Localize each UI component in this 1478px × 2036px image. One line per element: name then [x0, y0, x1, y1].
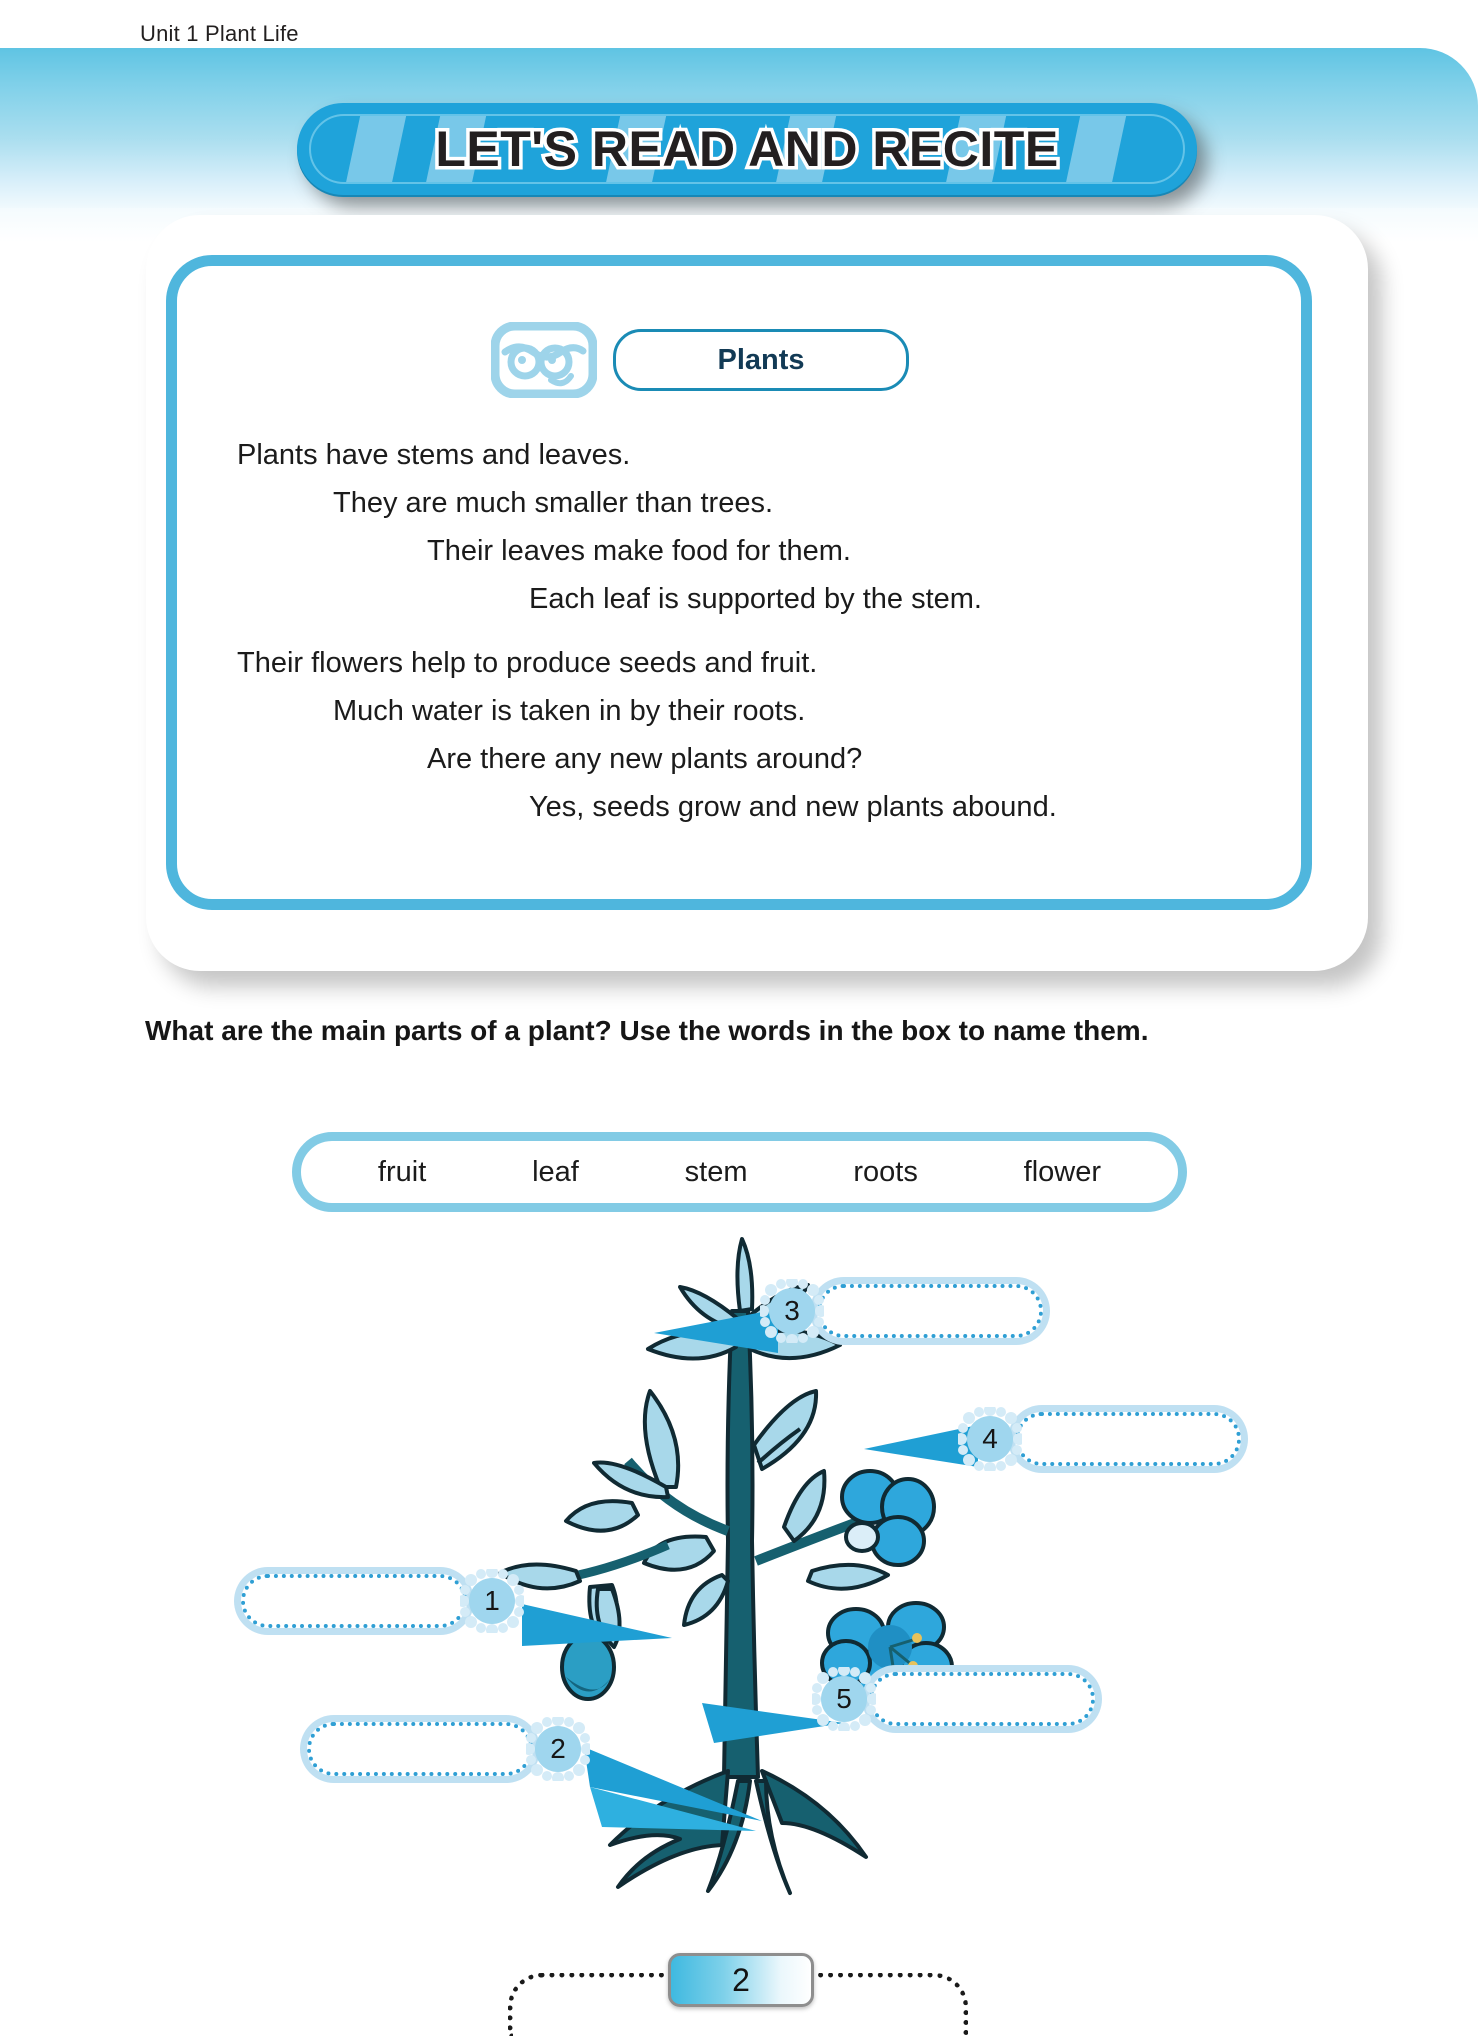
answer-box-3[interactable] — [810, 1277, 1050, 1345]
unit-label: Unit 1 Plant Life — [140, 21, 299, 47]
plant-diagram: 3 4 — [0, 1215, 1478, 1915]
callout-4[interactable]: 4 — [958, 1405, 1248, 1473]
poem-line: Each leaf is supported by the stem. — [237, 575, 1271, 623]
answer-input-1[interactable] — [241, 1574, 467, 1628]
answer-input-3[interactable] — [817, 1284, 1043, 1338]
callout-number-1: 1 — [469, 1578, 515, 1624]
poem-stanza-gap — [237, 623, 1271, 639]
poem-line: Their leaves make food for them. — [237, 527, 1271, 575]
callout-2[interactable]: 2 — [300, 1715, 590, 1783]
poem-title-row: Plants — [491, 322, 909, 398]
callout-number-4: 4 — [967, 1416, 1013, 1462]
callout-1[interactable]: 1 — [234, 1567, 524, 1635]
title-banner: LET'S READ AND RECITE — [297, 103, 1197, 195]
poem-line: Their flowers help to produce seeds and … — [237, 639, 1271, 687]
poem-line: Yes, seeds grow and new plants abound. — [237, 783, 1271, 831]
poem-title-text: Plants — [717, 344, 804, 377]
word-bank-item-stem[interactable]: stem — [685, 1156, 748, 1189]
word-bank-item-fruit[interactable]: fruit — [378, 1156, 426, 1189]
poem-line: Plants have stems and leaves. — [237, 431, 1271, 479]
answer-input-2[interactable] — [307, 1722, 533, 1776]
poem-lines: Plants have stems and leaves. They are m… — [237, 431, 1271, 831]
callout-3[interactable]: 3 — [760, 1277, 1050, 1345]
callout-number-5: 5 — [821, 1676, 867, 1722]
pointer-arrow-1-icon — [520, 1590, 680, 1670]
word-bank-item-leaf[interactable]: leaf — [532, 1156, 579, 1189]
pointer-arrow-2-icon — [580, 1735, 770, 1845]
page-number-badge: 2 — [668, 1953, 814, 2007]
callout-number-3: 3 — [769, 1288, 815, 1334]
callout-badge-1: 1 — [460, 1569, 524, 1633]
face-with-glasses-icon — [491, 322, 597, 398]
answer-box-2[interactable] — [300, 1715, 540, 1783]
instruction-text: What are the main parts of a plant? Use … — [145, 1008, 1355, 1054]
poem-line: Are there any new plants around? — [237, 735, 1271, 783]
callout-number-2: 2 — [535, 1726, 581, 1772]
page-footer: 2 — [508, 1945, 968, 2036]
answer-input-4[interactable] — [1015, 1412, 1241, 1466]
callout-badge-2: 2 — [526, 1717, 590, 1781]
poem-title-pill: Plants — [613, 329, 909, 391]
poem-card: Plants Plants have stems and leaves. The… — [166, 255, 1312, 910]
word-bank: fruit leaf stem roots flower — [292, 1132, 1187, 1212]
poem-line: They are much smaller than trees. — [237, 479, 1271, 527]
answer-box-1[interactable] — [234, 1567, 474, 1635]
poem-line: Much water is taken in by their roots. — [237, 687, 1271, 735]
callout-5[interactable]: 5 — [812, 1665, 1102, 1733]
callout-badge-4: 4 — [958, 1407, 1022, 1471]
callout-badge-3: 3 — [760, 1279, 824, 1343]
answer-input-5[interactable] — [869, 1672, 1095, 1726]
callout-badge-5: 5 — [812, 1667, 876, 1731]
answer-box-4[interactable] — [1008, 1405, 1248, 1473]
word-bank-item-roots[interactable]: roots — [853, 1156, 917, 1189]
word-bank-item-flower[interactable]: flower — [1024, 1156, 1101, 1189]
banner-title-text: LET'S READ AND RECITE — [297, 103, 1197, 195]
answer-box-5[interactable] — [862, 1665, 1102, 1733]
